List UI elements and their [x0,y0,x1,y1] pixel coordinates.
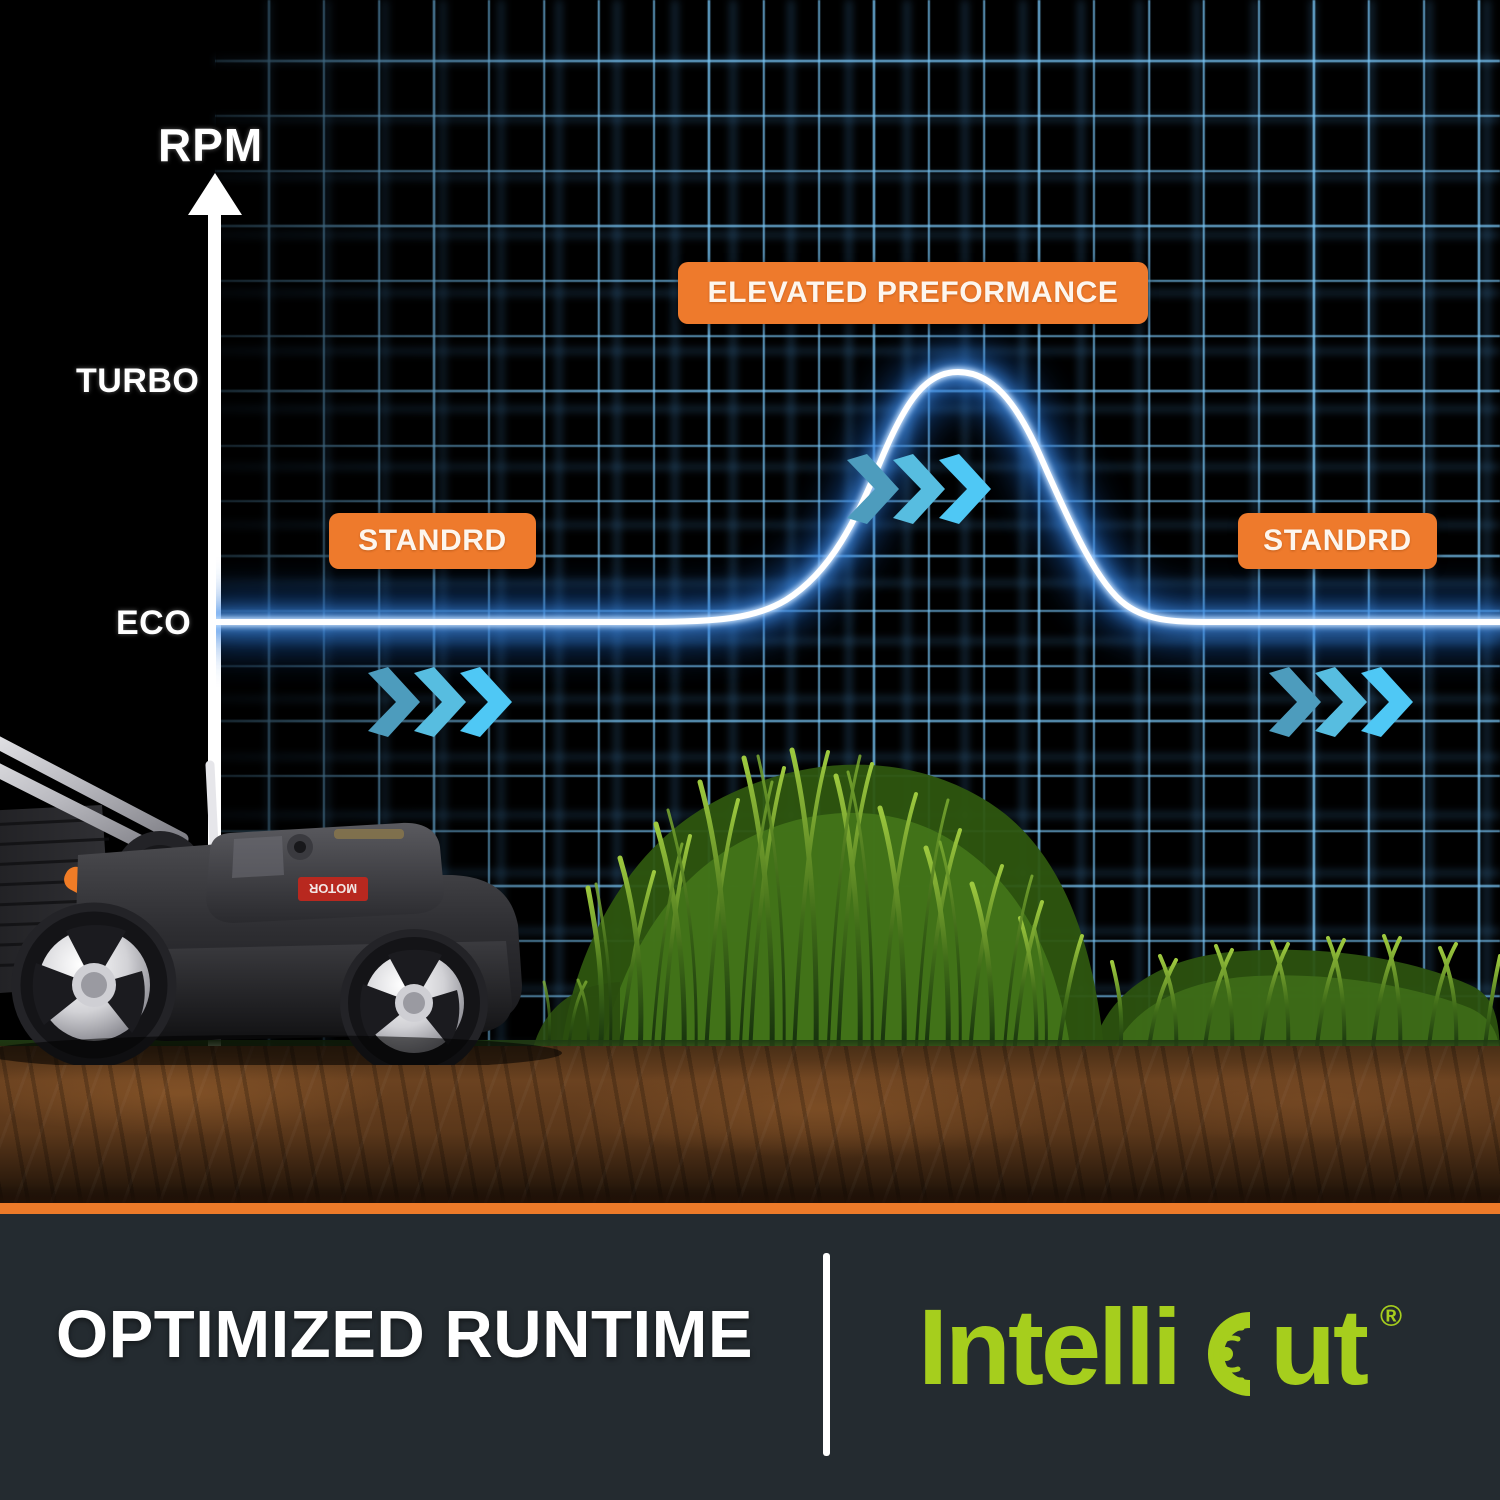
badge-elevated-performance[interactable]: ELEVATED PREFORMANCE [678,262,1148,324]
logo-trademark-symbol: ® [1380,1300,1402,1334]
chevrons-icon [845,452,995,526]
banner-separator [823,1253,830,1456]
intellicut-logo: Intelli ut [918,1292,1388,1412]
badge-standard-right[interactable]: STANDRD [1238,513,1437,569]
badge-standard-left[interactable]: STANDRD [329,513,536,569]
chevron-group-middle [845,452,995,526]
orange-divider [0,1203,1500,1214]
y-tick-label-turbo: TURBO [76,362,199,401]
banner-title: OPTIMIZED RUNTIME [56,1296,753,1373]
chart-scene: RPM TURBO ECO ELEVATED PREFORMANCE STAND… [0,0,1500,1203]
mower-battery-label: MOTOR [308,881,357,896]
chevron-group-left [366,665,516,739]
chevrons-icon [366,665,516,739]
intellicut-logo-svg: Intelli ut [918,1292,1388,1412]
chevrons-icon [1267,665,1417,739]
y-tick-label-eco: ECO [116,604,191,643]
ground-shadow [0,1190,1500,1203]
lawn-mower-image: MOTOR [0,735,602,1065]
logo-text-intelli: Intelli [918,1292,1179,1407]
chevron-group-right [1267,665,1417,739]
soil-cross-section [0,1046,1500,1203]
lawn-mower-svg: MOTOR [0,735,602,1065]
logo-text-ut: ut [1270,1292,1368,1407]
promo-graphic: RPM TURBO ECO ELEVATED PREFORMANCE STAND… [0,0,1500,1500]
